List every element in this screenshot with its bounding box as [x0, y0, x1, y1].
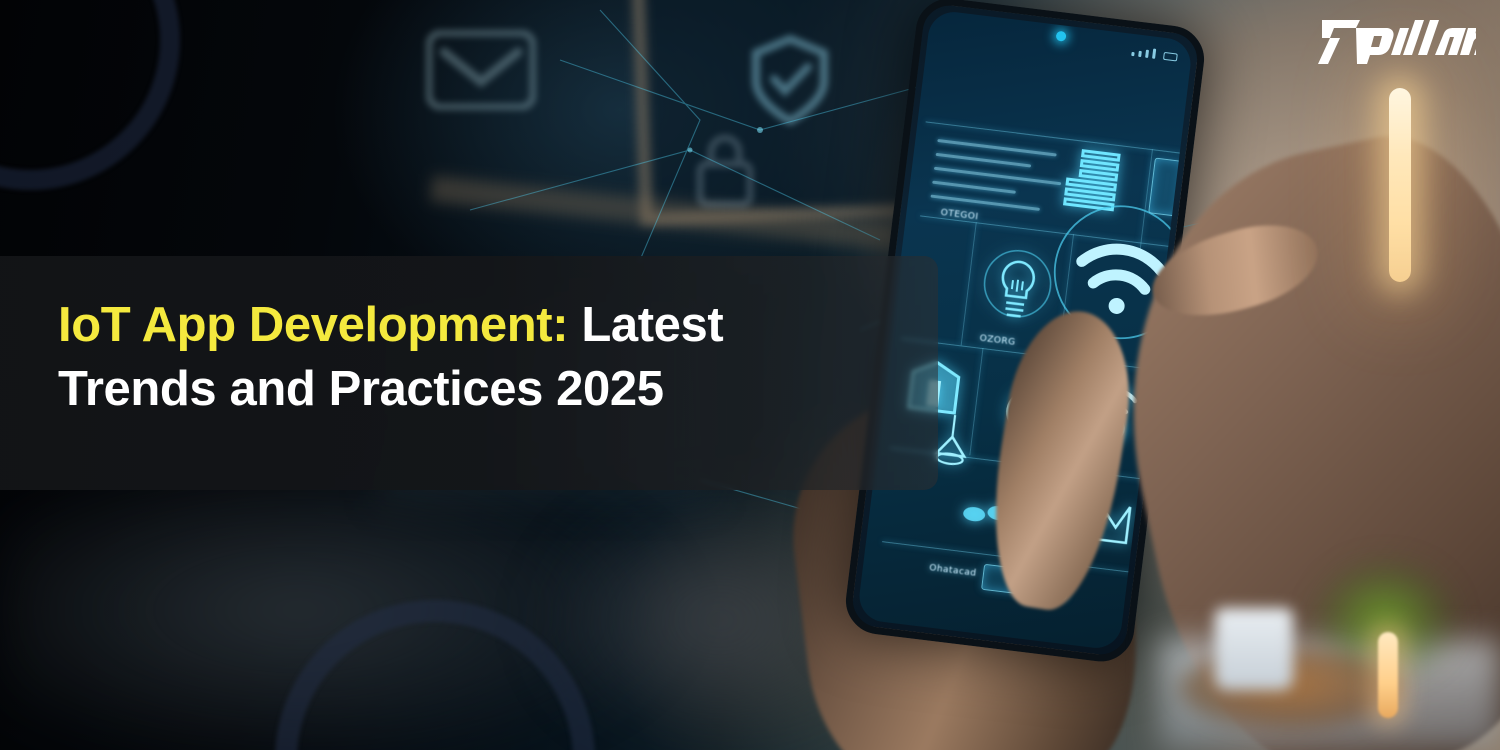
coffee-cup [1215, 608, 1293, 690]
brand-logo[interactable] [1316, 18, 1476, 66]
hero-banner: OTEGOI OZORG [0, 0, 1500, 750]
headline-line2: Trends and Practices 2025 [58, 362, 664, 416]
phone-label-1: OTEGOI [940, 208, 979, 223]
ghost-shield-icon [750, 35, 830, 125]
wall-led-light [1389, 88, 1411, 282]
ghost-mail-icon [426, 30, 536, 110]
headline-accent: IoT App Development: [58, 298, 568, 352]
headline-rest-line1: Latest [568, 298, 723, 352]
phone-label-3: Ohatacad [929, 563, 977, 579]
candle-light [1378, 632, 1398, 718]
ghost-lock-icon [690, 130, 760, 210]
page-title: IoT App Development: Latest Trends and P… [58, 294, 958, 421]
phone-top-chip [1148, 158, 1185, 217]
seven-pillars-logo-icon [1316, 18, 1476, 66]
